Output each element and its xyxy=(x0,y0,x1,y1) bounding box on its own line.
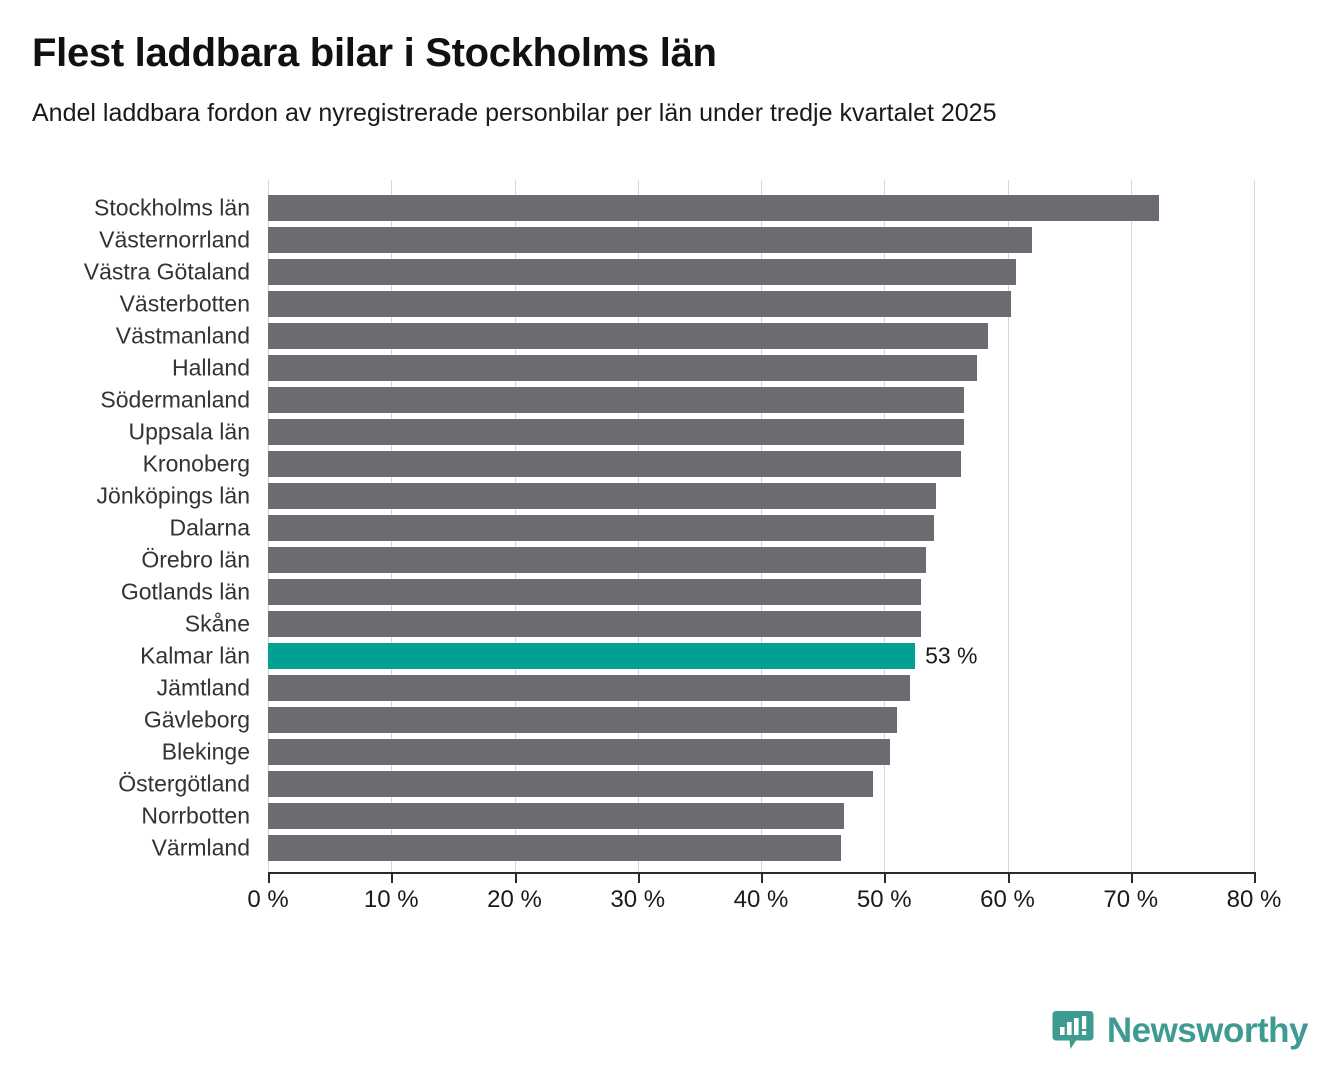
bar-row: Jönköpings län xyxy=(0,483,1340,509)
bar-row: Stockholms län xyxy=(0,195,1340,221)
x-tick-label: 0 % xyxy=(247,886,288,914)
bar-row: Västernorrland xyxy=(0,227,1340,253)
category-label: Skåne xyxy=(0,613,250,636)
bar[interactable] xyxy=(268,451,961,477)
bar[interactable] xyxy=(268,835,841,861)
bar-value-label: 53 % xyxy=(925,643,977,670)
page-title: Flest laddbara bilar i Stockholms län xyxy=(32,30,1308,76)
bar-row: Gotlands län xyxy=(0,579,1340,605)
category-label: Västernorrland xyxy=(0,229,250,252)
x-tick xyxy=(391,872,393,883)
bar-row: Skåne xyxy=(0,611,1340,637)
category-label: Gotlands län xyxy=(0,581,250,604)
bar[interactable] xyxy=(268,611,921,637)
x-tick-label: 10 % xyxy=(364,886,419,914)
brand-footer: Newsworthy xyxy=(1052,1009,1308,1051)
x-tick xyxy=(1254,872,1256,883)
bar[interactable] xyxy=(268,355,977,381)
x-tick xyxy=(268,872,270,883)
bar-row: Uppsala län xyxy=(0,419,1340,445)
x-tick xyxy=(884,872,886,883)
bar[interactable] xyxy=(268,579,921,605)
bar[interactable] xyxy=(268,291,1011,317)
bar[interactable] xyxy=(268,803,844,829)
category-label: Dalarna xyxy=(0,517,250,540)
bar[interactable] xyxy=(268,195,1159,221)
x-tick-label: 30 % xyxy=(610,886,665,914)
bar[interactable] xyxy=(268,547,926,573)
category-label: Stockholms län xyxy=(0,197,250,220)
bar-row: Örebro län xyxy=(0,547,1340,573)
bar-row: Halland xyxy=(0,355,1340,381)
x-tick-label: 70 % xyxy=(1103,886,1158,914)
category-label: Blekinge xyxy=(0,741,250,764)
chart-header: Flest laddbara bilar i Stockholms län An… xyxy=(0,0,1340,128)
category-label: Östergötland xyxy=(0,773,250,796)
bar-row: Västmanland xyxy=(0,323,1340,349)
bar[interactable] xyxy=(268,771,873,797)
bar-row: Södermanland xyxy=(0,387,1340,413)
bar-row: Västerbotten xyxy=(0,291,1340,317)
bar-row: Värmland xyxy=(0,835,1340,861)
bar-chart: Stockholms länVästernorrlandVästra Götal… xyxy=(0,178,1340,938)
category-label: Kalmar län xyxy=(0,645,250,668)
bar-row: Gävleborg xyxy=(0,707,1340,733)
bar[interactable] xyxy=(268,739,890,765)
brand-name: Newsworthy xyxy=(1107,1013,1308,1048)
category-label: Värmland xyxy=(0,837,250,860)
bar[interactable] xyxy=(268,323,988,349)
x-tick-label: 20 % xyxy=(487,886,542,914)
chart-subtitle: Andel laddbara fordon av nyregistrerade … xyxy=(32,98,1308,128)
x-tick xyxy=(515,872,517,883)
bar-row: Östergötland xyxy=(0,771,1340,797)
x-tick-label: 60 % xyxy=(980,886,1035,914)
bar-row: Blekinge xyxy=(0,739,1340,765)
category-label: Norrbotten xyxy=(0,805,250,828)
x-tick-label: 50 % xyxy=(857,886,912,914)
category-label: Örebro län xyxy=(0,549,250,572)
category-label: Kronoberg xyxy=(0,453,250,476)
x-tick xyxy=(761,872,763,883)
bar[interactable] xyxy=(268,675,910,701)
bar[interactable] xyxy=(268,227,1032,253)
x-tick xyxy=(1008,872,1010,883)
bar-highlighted[interactable] xyxy=(268,643,915,669)
category-label: Västmanland xyxy=(0,325,250,348)
bar[interactable] xyxy=(268,483,936,509)
bar-row: Dalarna xyxy=(0,515,1340,541)
bar-chart-bubble-icon xyxy=(1052,1009,1094,1051)
category-label: Jönköpings län xyxy=(0,485,250,508)
x-tick xyxy=(1131,872,1133,883)
category-label: Södermanland xyxy=(0,389,250,412)
bar-row: Kalmar län53 % xyxy=(0,643,1340,669)
category-label: Västra Götaland xyxy=(0,261,250,284)
bar-row: Västra Götaland xyxy=(0,259,1340,285)
bar[interactable] xyxy=(268,707,897,733)
bar[interactable] xyxy=(268,387,964,413)
bar[interactable] xyxy=(268,515,934,541)
x-tick xyxy=(638,872,640,883)
x-tick-label: 40 % xyxy=(734,886,789,914)
bar[interactable] xyxy=(268,419,964,445)
x-tick-label: 80 % xyxy=(1227,886,1282,914)
category-label: Uppsala län xyxy=(0,421,250,444)
bar[interactable] xyxy=(268,259,1016,285)
category-label: Västerbotten xyxy=(0,293,250,316)
category-label: Halland xyxy=(0,357,250,380)
category-label: Gävleborg xyxy=(0,709,250,732)
bar-row: Kronoberg xyxy=(0,451,1340,477)
bar-row: Norrbotten xyxy=(0,803,1340,829)
category-label: Jämtland xyxy=(0,677,250,700)
bar-row: Jämtland xyxy=(0,675,1340,701)
